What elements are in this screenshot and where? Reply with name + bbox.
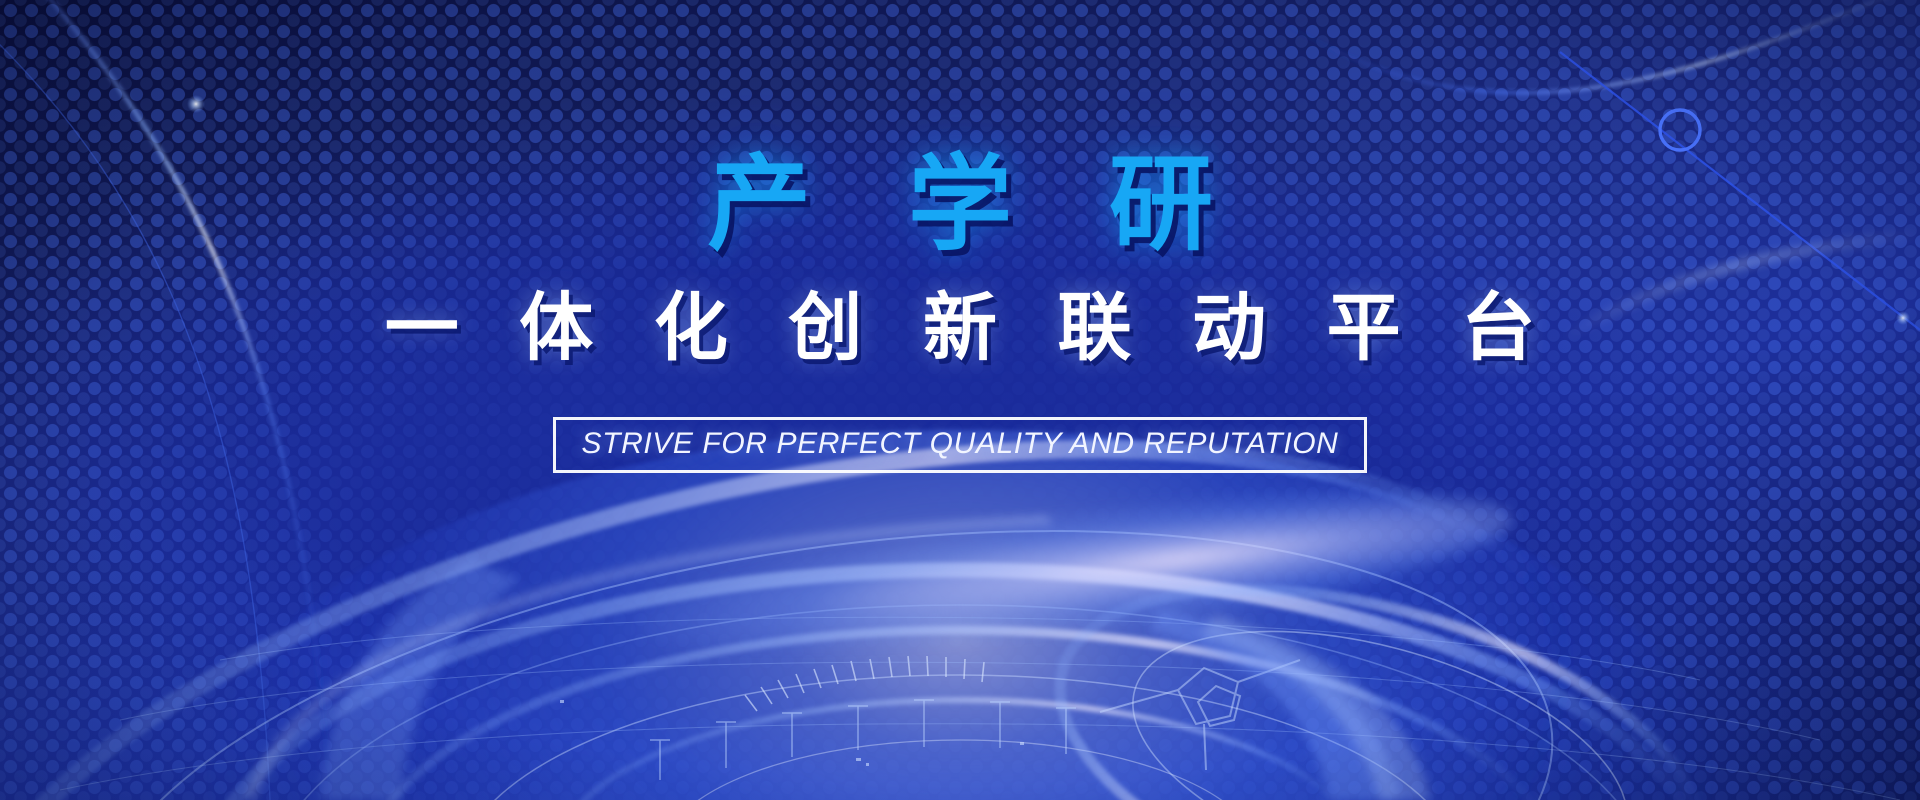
banner-tagline: STRIVE FOR PERFECT QUALITY AND REPUTATIO… [582, 427, 1339, 461]
tagline-box: STRIVE FOR PERFECT QUALITY AND REPUTATIO… [553, 417, 1368, 473]
banner-title: 产 学 研 [673, 150, 1247, 260]
banner-subtitle: 一 体 化 创 新 联 动 平 台 [365, 268, 1555, 375]
globe-ring-inner [555, 700, 1365, 800]
globe-ring-hairline-3 [660, 740, 1260, 800]
banner-content: 产 学 研 一 体 化 创 新 联 动 平 台 STRIVE FOR PERFE… [0, 0, 1920, 473]
hud-pins-icon [650, 700, 1076, 780]
promo-banner: 产 学 研 一 体 化 创 新 联 动 平 台 STRIVE FOR PERFE… [0, 0, 1920, 800]
